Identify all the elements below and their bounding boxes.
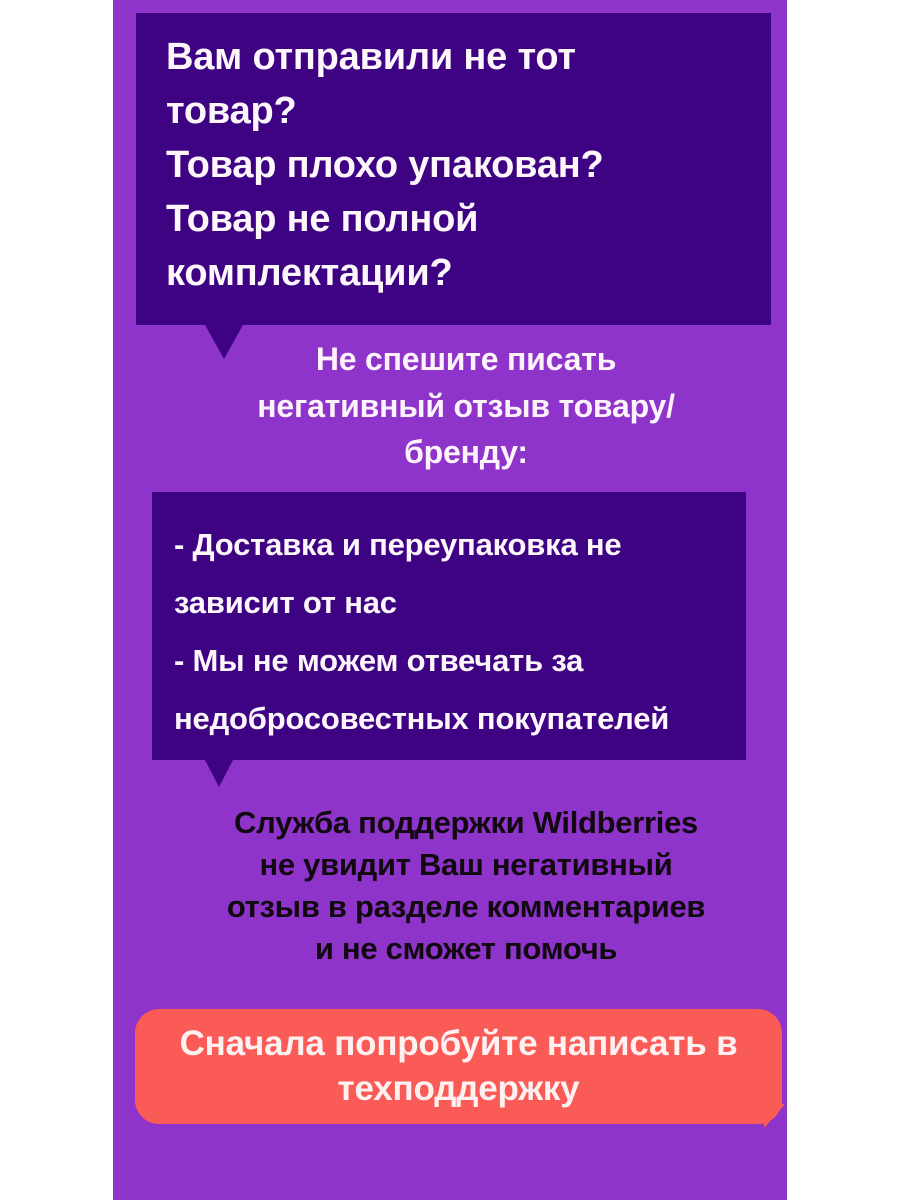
support-statement: Служба поддержки Wildberries не увидит В… xyxy=(136,802,796,971)
question-line-4: Товар не полной xyxy=(166,193,745,247)
purple-panel: Вам отправили не тот товар? Товар плохо … xyxy=(113,0,787,1200)
advisory-line-3: бренду: xyxy=(136,429,796,476)
reasons-bubble-tail-icon xyxy=(205,760,233,787)
reason-line-1: - Доставка и переупаковка не xyxy=(174,516,730,574)
advisory-text: Не спешите писать негативный отзыв товар… xyxy=(136,336,796,476)
statement-line-1: Служба поддержки Wildberries xyxy=(136,802,796,844)
advisory-line-1: Не спешите писать xyxy=(136,336,796,383)
poster: Вам отправили не тот товар? Товар плохо … xyxy=(0,0,900,1200)
reason-line-2: зависит от нас xyxy=(174,574,730,632)
cta-bubble-tail-icon xyxy=(764,1104,785,1128)
reasons-bubble: - Доставка и переупаковка не зависит от … xyxy=(152,492,746,760)
cta-bubble[interactable]: Сначала попробуйте написать в техподдерж… xyxy=(135,1009,782,1124)
question-line-5: комплектации? xyxy=(166,247,745,301)
statement-line-3: отзыв в разделе комментариев xyxy=(136,886,796,928)
reason-line-3: - Мы не можем отвечать за xyxy=(174,632,730,690)
statement-line-4: и не сможет помочь xyxy=(136,928,796,970)
question-line-2: товар? xyxy=(166,85,745,139)
reason-line-4: недобросовестных покупателей xyxy=(174,690,730,748)
cta-label: Сначала попробуйте написать в техподдерж… xyxy=(135,1022,782,1112)
question-line-3: Товар плохо упакован? xyxy=(166,139,745,193)
question-line-1: Вам отправили не тот xyxy=(166,31,745,85)
statement-line-2: не увидит Ваш негативный xyxy=(136,844,796,886)
advisory-line-2: негативный отзыв товару/ xyxy=(136,383,796,430)
question-bubble: Вам отправили не тот товар? Товар плохо … xyxy=(136,13,771,325)
